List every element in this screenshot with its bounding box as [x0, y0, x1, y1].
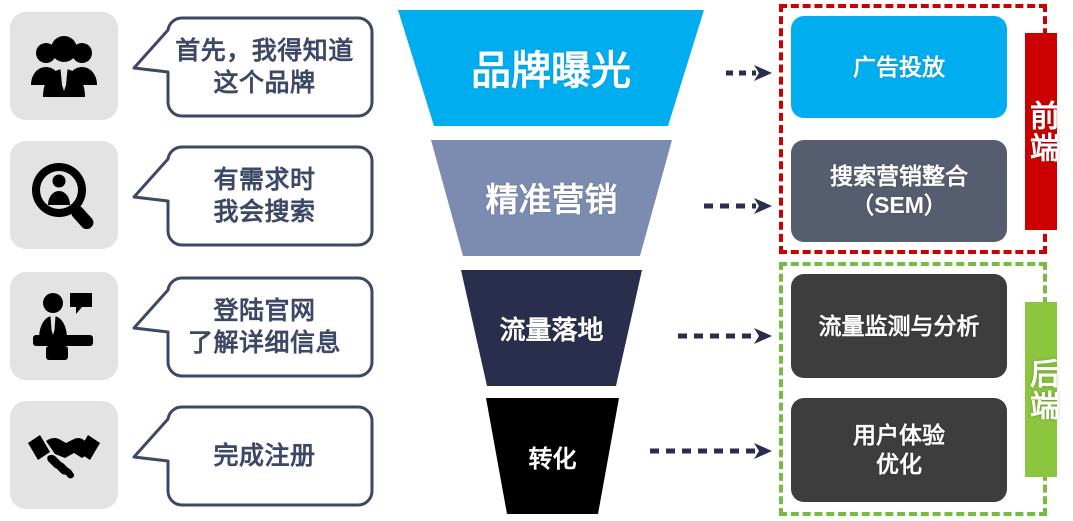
persona-quote-text: 完成注册	[164, 397, 365, 515]
funnel-stage-targeting: 精准营销	[429, 138, 674, 258]
tactic-chip-sem[interactable]: 搜索营销整合 （SEM）	[791, 140, 1007, 242]
persona-tile-website	[10, 272, 118, 380]
funnel-stage-label: 精准营销	[429, 170, 674, 224]
person-desk-icon	[30, 291, 98, 361]
persona-tile-awareness	[10, 12, 118, 120]
funnel-stage-conversion: 转化	[484, 396, 621, 516]
funnel-diagram-canvas: 首先，我得知道 这个品牌 有需求时 我会搜索 登陆官网 了解详细信息 完成注册 …	[0, 0, 1073, 520]
persona-quote-text: 有需求时 我会搜索	[164, 137, 365, 255]
group-tab-front-end: 前端	[1025, 33, 1057, 230]
tactic-chip-ux-optimization[interactable]: 用户体验 优化	[791, 398, 1007, 502]
persona-quote-signup: 完成注册	[130, 397, 375, 515]
persona-quote-search: 有需求时 我会搜索	[130, 137, 375, 255]
connector-arrow-targeting	[702, 195, 774, 217]
funnel-stage-label: 品牌曝光	[396, 38, 706, 96]
persona-quote-text: 首先，我得知道 这个品牌	[164, 8, 365, 126]
people-group-icon	[29, 33, 99, 99]
persona-tile-search	[10, 141, 118, 249]
persona-quote-text: 登陆官网 了解详细信息	[164, 268, 365, 386]
funnel-stage-traffic: 流量落地	[459, 268, 644, 388]
funnel-stage-label: 转化	[484, 434, 621, 478]
connector-arrow-awareness	[724, 62, 774, 84]
person-search-icon	[29, 161, 99, 229]
group-tab-back-end: 后端	[1025, 302, 1057, 477]
tactic-chip-traffic-analytics[interactable]: 流量监测与分析	[791, 274, 1007, 378]
persona-tile-signup	[10, 401, 118, 509]
funnel-stage-label: 流量落地	[459, 306, 644, 350]
handshake-icon	[26, 429, 102, 481]
connector-arrow-conversion	[648, 440, 774, 462]
tactic-chip-ad-placement[interactable]: 广告投放	[791, 16, 1007, 118]
connector-arrow-traffic	[676, 325, 774, 347]
persona-quote-awareness: 首先，我得知道 这个品牌	[130, 8, 375, 126]
persona-quote-website: 登陆官网 了解详细信息	[130, 268, 375, 386]
funnel-stage-awareness: 品牌曝光	[396, 8, 706, 128]
